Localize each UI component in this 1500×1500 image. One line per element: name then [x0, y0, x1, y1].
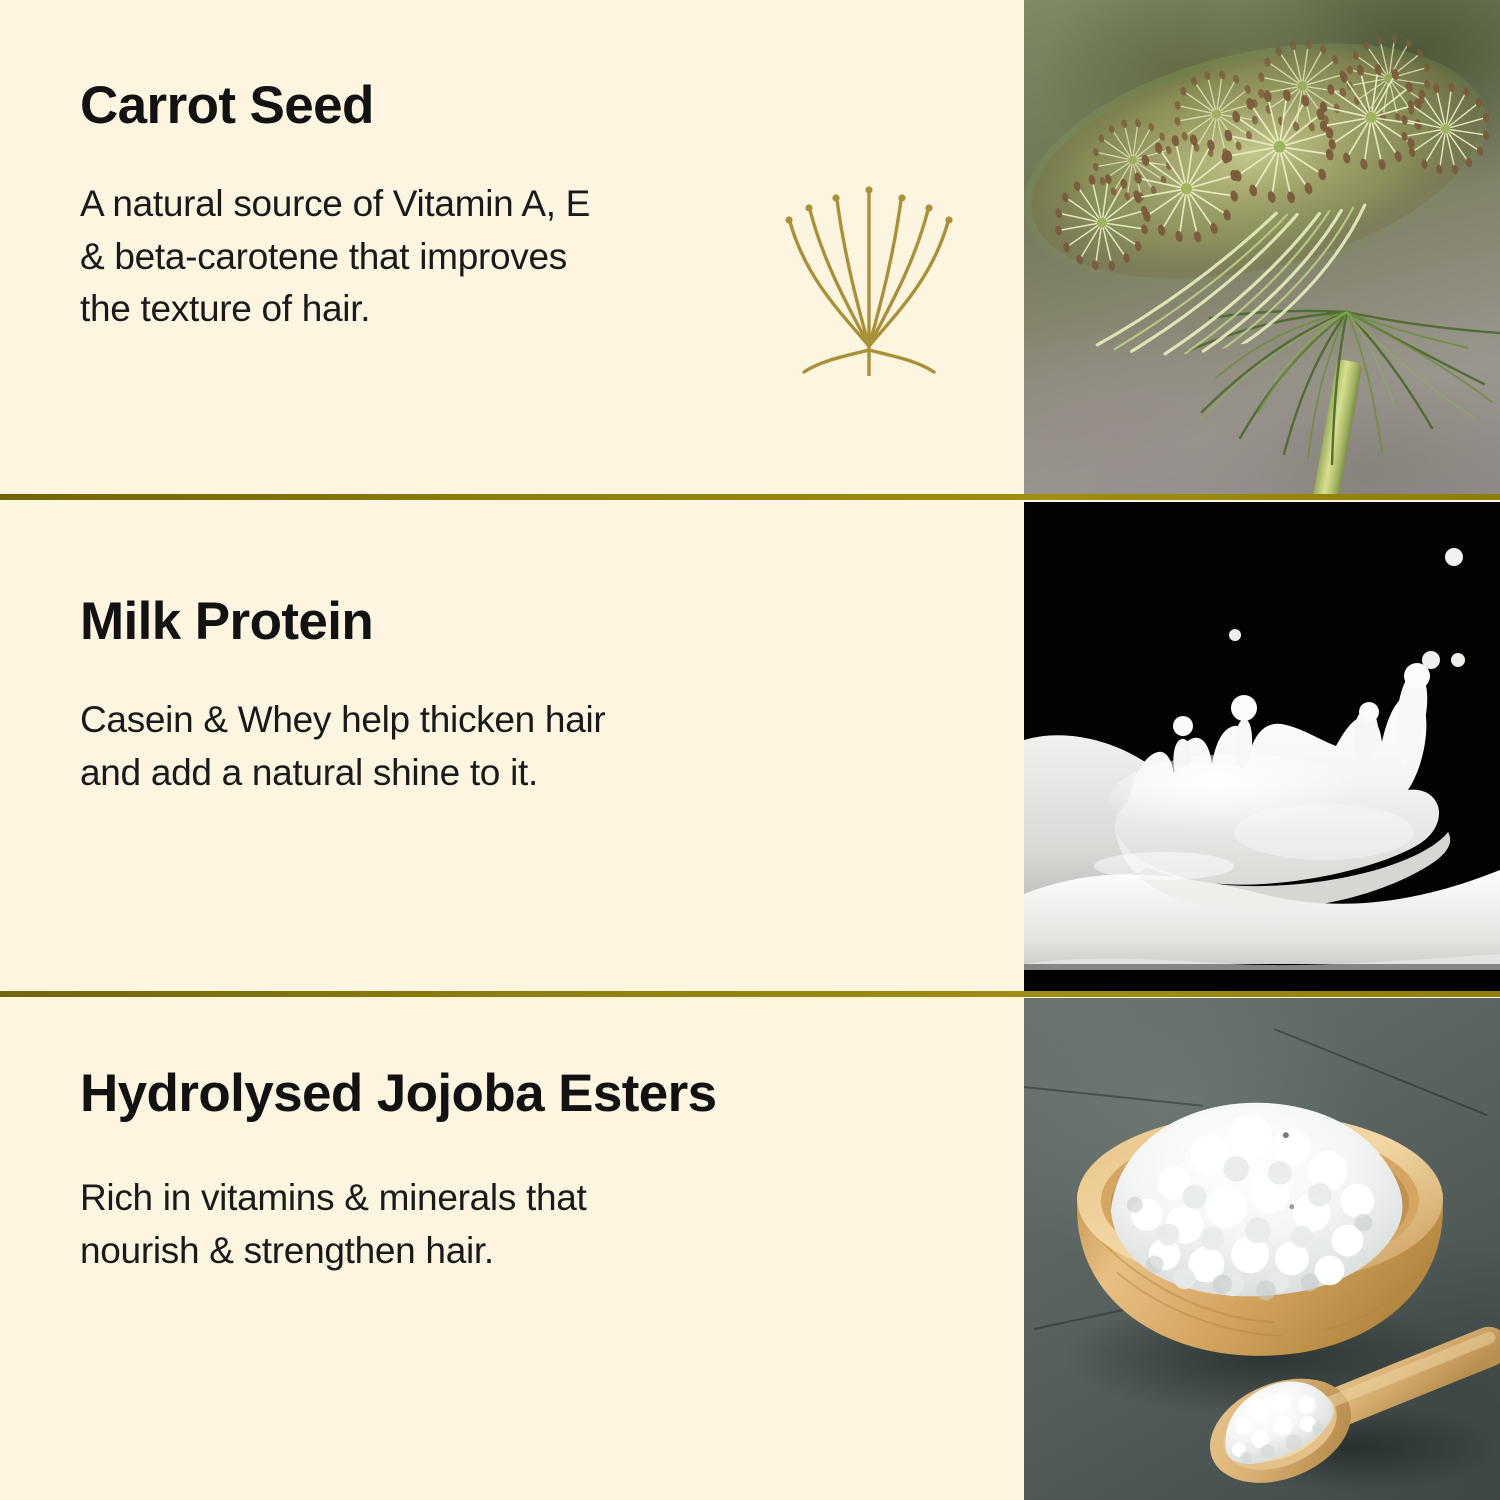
panel-title-milk-protein: Milk Protein [80, 594, 780, 650]
text-block-hydrolysed-jojoba-esters: Hydrolysed Jojoba Esters Rich in vitamin… [80, 1066, 780, 1277]
wild-carrot-flower-photo [1024, 0, 1500, 497]
divider-1 [0, 494, 1500, 500]
ingredient-row-carrot-seed: Carrot Seed A natural source of Vitamin … [0, 0, 1500, 497]
ingredient-row-hydrolysed-jojoba-esters: Hydrolysed Jojoba Esters Rich in vitamin… [0, 998, 1500, 1500]
milk-splash-photo [1024, 502, 1500, 993]
ingredients-infographic: Carrot Seed A natural source of Vitamin … [0, 0, 1500, 1500]
text-pane-carrot-seed: Carrot Seed A natural source of Vitamin … [0, 0, 1024, 497]
ingredient-row-milk-protein: Milk Protein Casein & Whey help thicken … [0, 502, 1500, 993]
text-pane-hydrolysed-jojoba-esters: Hydrolysed Jojoba Esters Rich in vitamin… [0, 998, 1024, 1500]
text-block-milk-protein: Milk Protein Casein & Whey help thicken … [80, 594, 780, 799]
divider-2 [0, 991, 1500, 997]
jojoba-esters-bowl-photo [1024, 998, 1500, 1500]
text-block-carrot-seed: Carrot Seed A natural source of Vitamin … [80, 78, 780, 336]
text-pane-milk-protein: Milk Protein Casein & Whey help thicken … [0, 502, 1024, 993]
bowl-and-spoon [1024, 998, 1500, 1500]
carrot-umbel-icon [776, 160, 962, 376]
panel-description-carrot-seed: A natural source of Vitamin A, E & beta-… [80, 134, 780, 336]
panel-description-hydrolysed-jojoba-esters: Rich in vitamins & minerals that nourish… [80, 1122, 780, 1277]
panel-title-carrot-seed: Carrot Seed [80, 78, 780, 134]
panel-title-hydrolysed-jojoba-esters: Hydrolysed Jojoba Esters [80, 1066, 780, 1122]
panel-description-milk-protein: Casein & Whey help thicken hair and add … [80, 650, 780, 799]
milk-crown-splash [1024, 502, 1500, 993]
